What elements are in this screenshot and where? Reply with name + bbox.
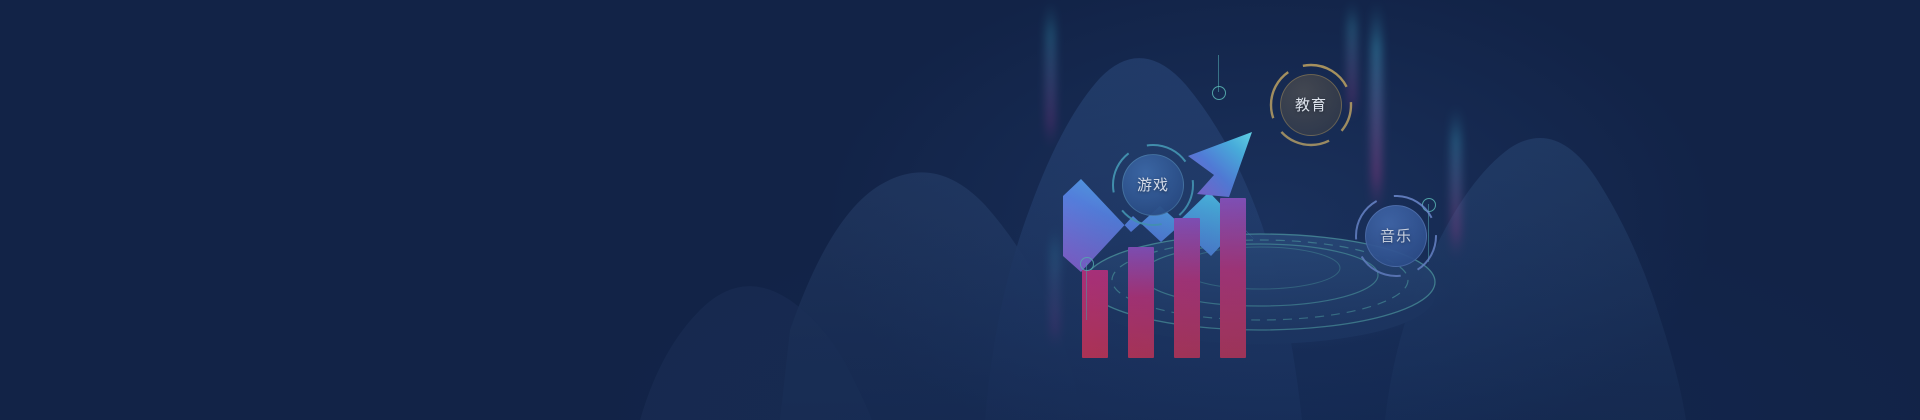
node-left-stem: [1086, 263, 1087, 320]
badge-edu[interactable]: 教育: [1263, 57, 1359, 153]
badge-music[interactable]: 音乐: [1348, 188, 1444, 284]
badge-game[interactable]: 游戏: [1105, 137, 1201, 233]
badge-game-label: 游戏: [1122, 154, 1184, 216]
badge-edu-label: 教育: [1280, 74, 1342, 136]
node-top: [1212, 0, 1224, 420]
hologram-platform: [0, 0, 1920, 420]
node-left-dot: [1080, 257, 1094, 271]
bar-2: [1128, 247, 1154, 358]
node-left: [1080, 0, 1092, 420]
badge-music-label: 音乐: [1365, 205, 1427, 267]
node-top-dot: [1212, 86, 1226, 100]
banner-root: 游戏 教育 音乐: [0, 0, 1920, 420]
bar-3: [1174, 218, 1200, 358]
